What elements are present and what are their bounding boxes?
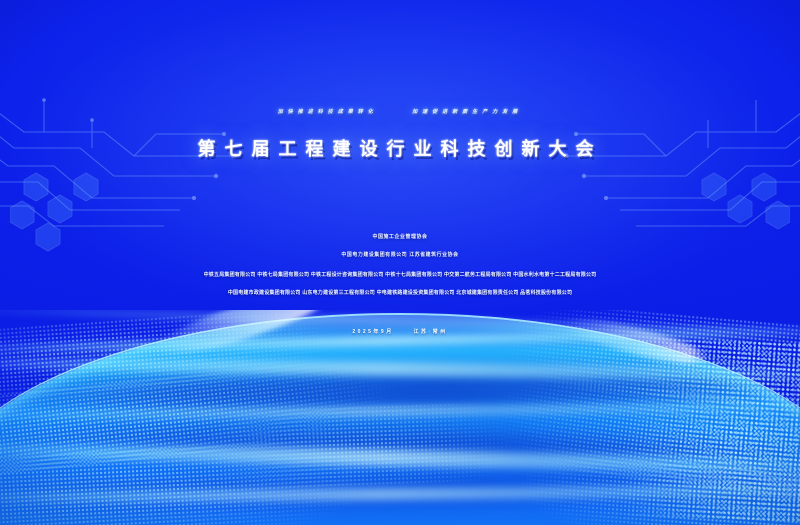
organizer-line-3: 中铁五局集团有限公司 中铁七局集团有限公司 中铁工程设计咨询集团有限公司 中铁十… <box>0 271 800 278</box>
event-date-location: 2025年9月 江苏·常州 <box>0 328 800 335</box>
organizer-line-1: 中国施工企业管理协会 <box>0 233 800 240</box>
conference-backdrop-poster: 加快推进科技成果转化 加速促进新质生产力发展 第七届工程建设行业科技创新大会 中… <box>0 0 800 525</box>
slogan-left-text: 加快推进科技成果转化 <box>278 110 378 115</box>
event-location: 江苏·常州 <box>414 329 448 335</box>
slogan-right-text: 加速促进新质生产力发展 <box>412 110 522 115</box>
organizer-line-4: 中国电建市政建设集团有限公司 山东电力建设第三工程有限公司 中电建铁路建设投资集… <box>0 289 800 296</box>
poster-slogan: 加快推进科技成果转化 加速促进新质生产力发展 <box>0 108 800 115</box>
organizer-line-2: 中国电力建设集团有限公司 江苏省建筑行业协会 <box>0 251 800 258</box>
event-date: 2025年9月 <box>352 329 393 335</box>
page-title: 第七届工程建设行业科技创新大会 <box>0 140 800 159</box>
poster-text-content: 加快推进科技成果转化 加速促进新质生产力发展 第七届工程建设行业科技创新大会 中… <box>0 0 800 525</box>
